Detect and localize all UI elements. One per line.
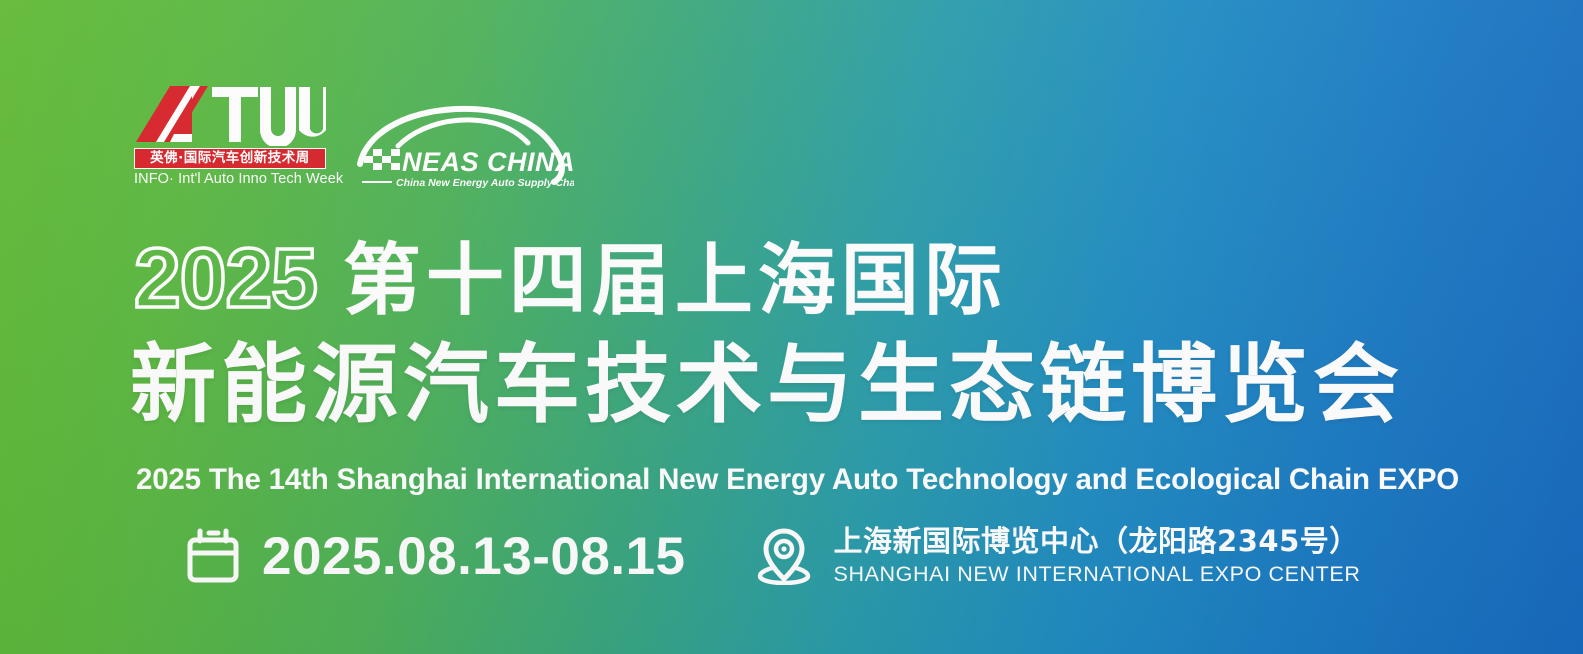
checkered-flag-icon [364, 149, 400, 170]
logo-row: 英佛·国际汽车创新技术周 INFO· Int'l Auto Inno Tech … [134, 84, 574, 188]
atw-logo-red-bar: 英佛·国际汽车创新技术周 [134, 148, 326, 169]
headline-en-subtitle: 2025 The 14th Shanghai International New… [136, 463, 1459, 497]
event-date: 2025.08.13-08.15 [262, 530, 686, 583]
headline-line-1: 2025 第十四届上海国际 [134, 236, 1007, 320]
calendar-icon [186, 528, 240, 584]
expo-banner: 英佛·国际汽车创新技术周 INFO· Int'l Auto Inno Tech … [0, 0, 1583, 654]
venue-name-en: SHANGHAI NEW INTERNATIONAL EXPO CENTER [834, 561, 1361, 588]
info-row: 2025.08.13-08.15 上海新国际博览中心（龙阳路2345号） SHA… [186, 524, 1360, 588]
headline-cn-line2: 新能源汽车技术与生态链博览会 [130, 337, 1404, 433]
atw-logo: 英佛·国际汽车创新技术周 INFO· Int'l Auto Inno Tech … [134, 84, 326, 188]
neas-wordmark: NEAS CHINA [402, 147, 574, 177]
venue-name-cn: 上海新国际博览中心（龙阳路2345号） [834, 524, 1361, 559]
venue-text-block: 上海新国际博览中心（龙阳路2345号） SHANGHAI NEW INTERNA… [834, 524, 1361, 588]
neas-subtitle: China New Energy Auto Supply Chain Expo [396, 177, 574, 189]
neas-china-logo: NEAS CHINA China New Energy Auto Supply … [352, 98, 574, 188]
atw-logo-bar-text: 英佛·国际汽车创新技术周 [150, 152, 310, 166]
venue-info: 上海新国际博览中心（龙阳路2345号） SHANGHAI NEW INTERNA… [756, 524, 1361, 588]
headline-cn-line1: 第十四届上海国际 [343, 242, 1007, 320]
location-pin-icon [756, 527, 812, 585]
date-info: 2025.08.13-08.15 [186, 528, 686, 584]
atw-logo-mark [134, 84, 326, 146]
headline-year: 2025 [134, 236, 317, 320]
atw-logo-subtitle: INFO· Int'l Auto Inno Tech Week [134, 172, 326, 188]
